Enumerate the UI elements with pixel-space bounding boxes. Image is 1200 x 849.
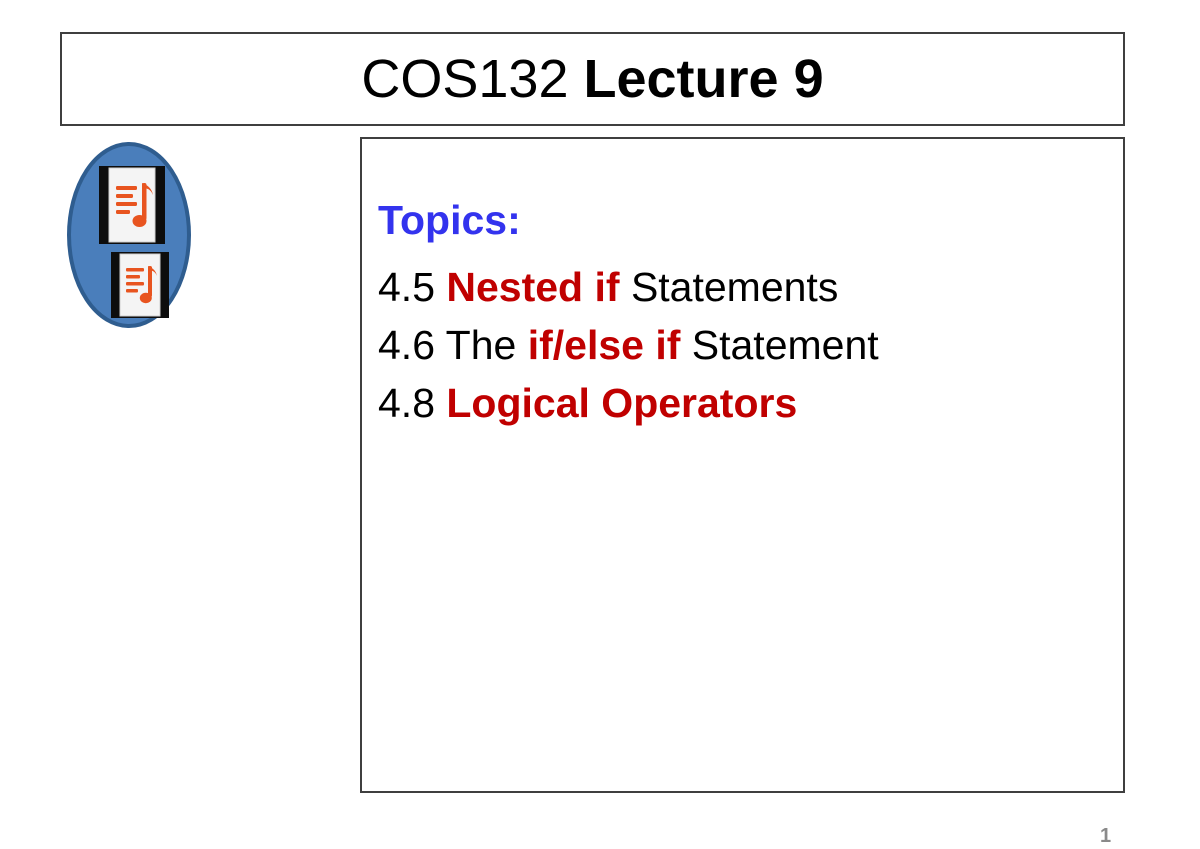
topics-heading: Topics: <box>378 191 1123 249</box>
list-item: 4.8 Logical Operators <box>378 374 1123 432</box>
page-title-lecture-label: Lecture 9 <box>584 49 824 109</box>
upper-media-tile <box>99 166 165 244</box>
topic-number: 4.8 <box>378 380 446 426</box>
slide-content-box: Topics: 4.5 Nested if Statements 4.6 The… <box>360 137 1125 793</box>
topic-number: 4.5 <box>378 264 446 310</box>
topic-post-text: Statement <box>680 322 878 368</box>
topics-list: Topics: 4.5 Nested if Statements 4.6 The… <box>378 191 1123 432</box>
lower-media-tile <box>111 252 169 318</box>
topic-emphasis: if/else if <box>528 322 681 368</box>
media-document-icon-graphic <box>67 142 191 328</box>
slide-title-box: COS132 Lecture 9 <box>60 32 1125 126</box>
list-item: 4.5 Nested if Statements <box>378 258 1123 316</box>
topic-emphasis: Logical Operators <box>446 380 797 426</box>
page-title-course-code: COS132 <box>361 49 583 109</box>
page-title: COS132 Lecture 9 <box>361 51 823 108</box>
topic-pre-text: The <box>446 322 528 368</box>
slide: COS132 Lecture 9 <box>0 0 1200 849</box>
page-number: 1 <box>1100 826 1111 846</box>
media-document-icon <box>67 142 191 328</box>
topic-post-text: Statements <box>620 264 839 310</box>
topic-emphasis: Nested if <box>446 264 619 310</box>
topic-number: 4.6 <box>378 322 446 368</box>
list-item: 4.6 The if/else if Statement <box>378 316 1123 374</box>
